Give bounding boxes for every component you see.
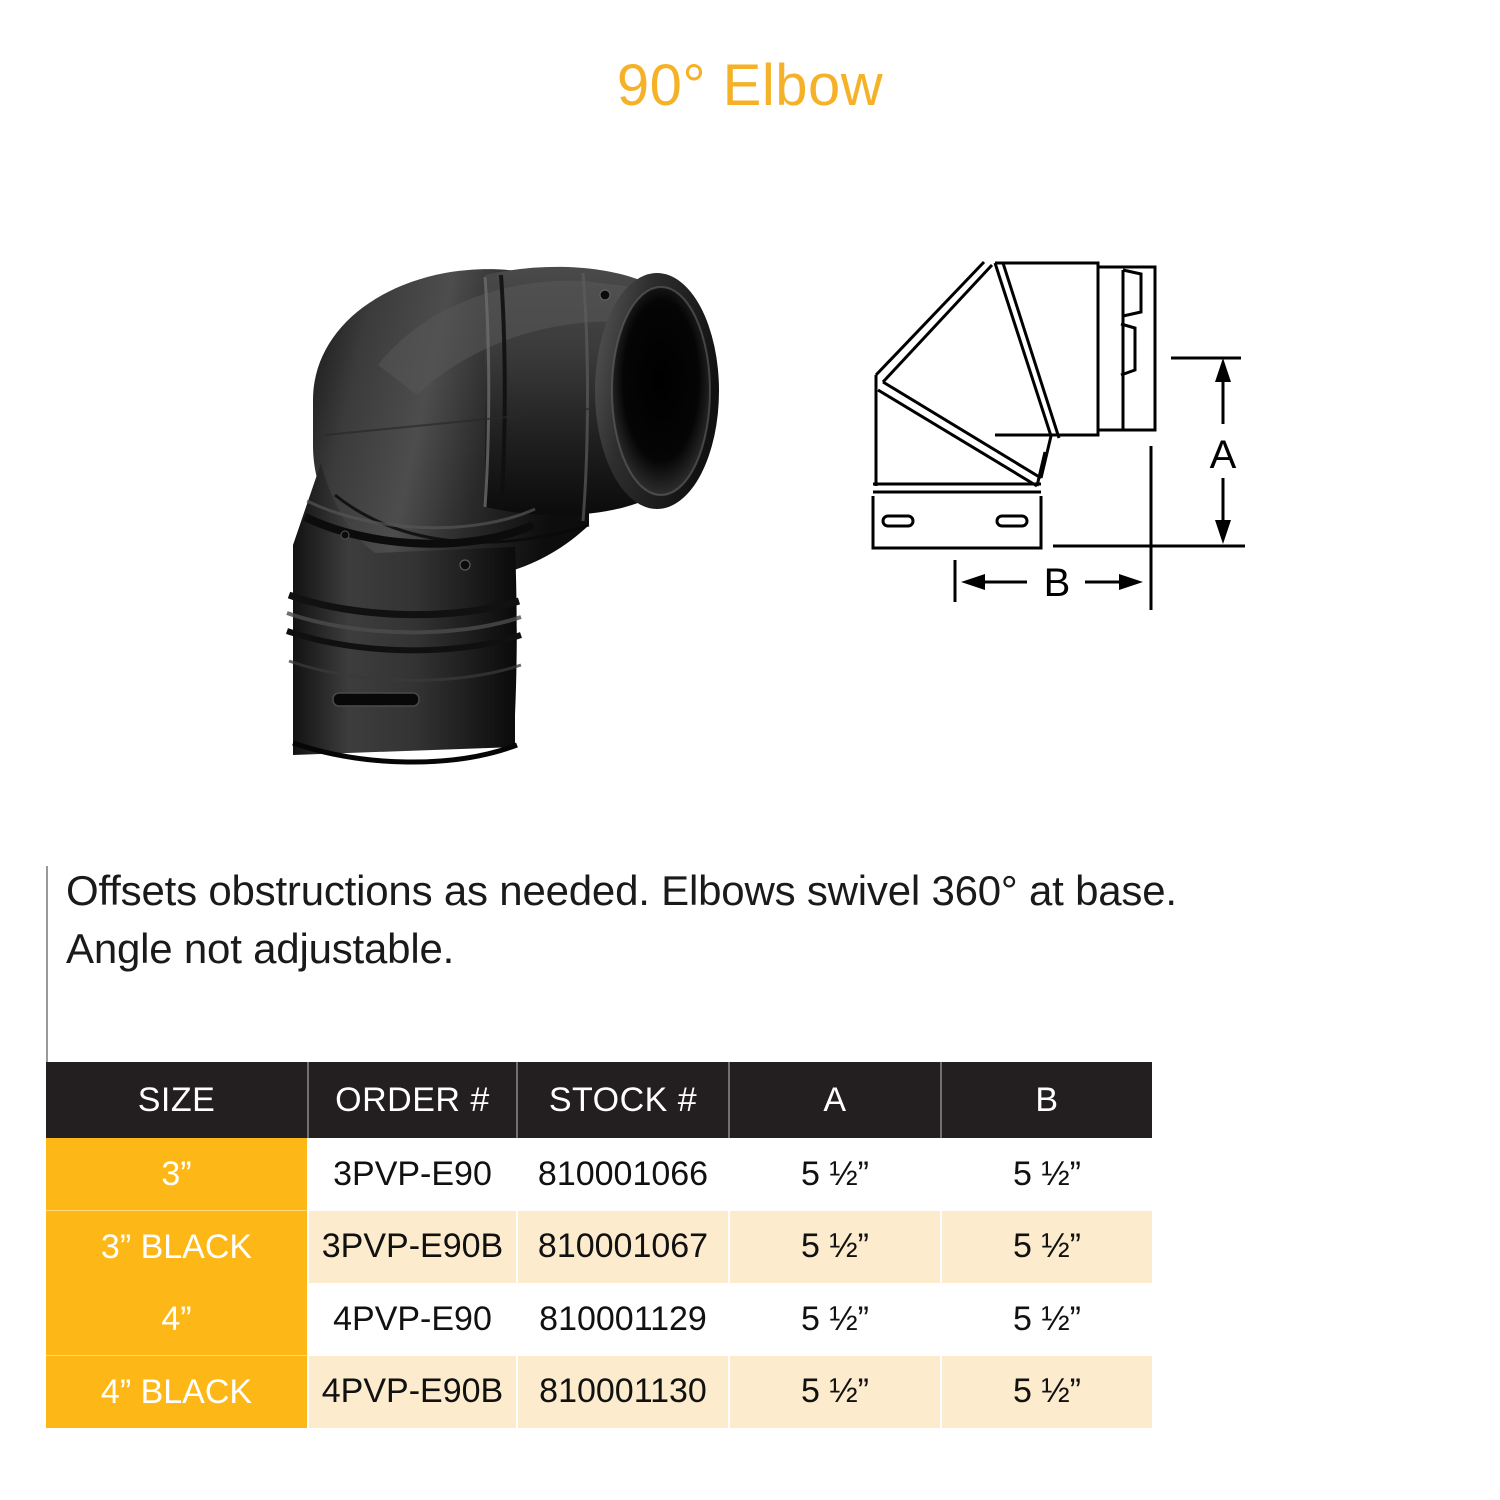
cell-a: 5 ½” <box>729 1356 941 1429</box>
elbow-rivet-3 <box>341 531 349 539</box>
product-photo-svg <box>185 195 745 775</box>
diagram-a-arrowhead-down <box>1215 520 1231 544</box>
cell-b: 5 ½” <box>941 1356 1152 1429</box>
diagram-base-slot-left <box>883 516 913 526</box>
technical-diagram: A B <box>845 230 1275 620</box>
diagram-base-plate <box>873 496 1041 548</box>
spec-table: SIZE ORDER # STOCK # A B 3” 3PVP-E90 810… <box>46 1062 1152 1428</box>
description-line-2: Angle not adjustable. <box>66 920 1456 978</box>
diagram-mitre-a1 <box>876 262 984 375</box>
cell-order: 3PVP-E90 <box>308 1138 517 1211</box>
table-row: 4” BLACK 4PVP-E90B 810001130 5 ½” 5 ½” <box>46 1356 1152 1429</box>
diagram-b-arrowhead-right <box>1119 574 1143 590</box>
product-description: Offsets obstructions as needed. Elbows s… <box>66 862 1456 978</box>
dimension-b-label: B <box>1044 561 1071 605</box>
cell-size: 4” <box>46 1283 308 1356</box>
diagram-a-arrowhead-up <box>1215 358 1231 382</box>
cell-order: 3PVP-E90B <box>308 1211 517 1284</box>
cell-size: 4” BLACK <box>46 1356 308 1429</box>
diagram-collar-outer <box>1098 267 1155 430</box>
technical-diagram-svg: A B <box>845 230 1275 620</box>
cell-a: 5 ½” <box>729 1211 941 1284</box>
diagram-base-slot-right <box>997 516 1027 526</box>
diagram-mitre-a2 <box>883 265 992 382</box>
diagram-mitre-b1 <box>995 263 1051 436</box>
cell-b: 5 ½” <box>941 1211 1152 1284</box>
column-header-b: B <box>941 1062 1152 1138</box>
elbow-rivet-2 <box>460 560 470 570</box>
cell-size: 3” BLACK <box>46 1211 308 1284</box>
cell-a: 5 ½” <box>729 1138 941 1211</box>
cell-order: 4PVP-E90 <box>308 1283 517 1356</box>
cell-stock: 810001130 <box>517 1356 729 1429</box>
elbow-base-slot <box>333 693 419 706</box>
elbow-rivet-1 <box>600 290 610 300</box>
product-photo <box>185 195 745 775</box>
table-header-row: SIZE ORDER # STOCK # A B <box>46 1062 1152 1138</box>
diagram-fold-2 <box>878 390 1037 486</box>
cell-b: 5 ½” <box>941 1283 1152 1356</box>
cell-stock: 810001067 <box>517 1211 729 1284</box>
cell-b: 5 ½” <box>941 1138 1152 1211</box>
cell-order: 4PVP-E90B <box>308 1356 517 1429</box>
left-vertical-rule <box>46 866 48 1062</box>
diagram-mitre-b2 <box>1003 263 1059 438</box>
diagram-fold-1 <box>883 382 1041 478</box>
column-header-stock: STOCK # <box>517 1062 729 1138</box>
cell-stock: 810001066 <box>517 1138 729 1211</box>
cell-size: 3” <box>46 1138 308 1211</box>
table-row: 3” 3PVP-E90 810001066 5 ½” 5 ½” <box>46 1138 1152 1211</box>
column-header-a: A <box>729 1062 941 1138</box>
description-line-1: Offsets obstructions as needed. Elbows s… <box>66 862 1456 920</box>
table-row: 4” 4PVP-E90 810001129 5 ½” 5 ½” <box>46 1283 1152 1356</box>
dimension-a-label: A <box>1210 433 1237 477</box>
column-header-order: ORDER # <box>308 1062 517 1138</box>
diagram-b-arrowhead-left <box>961 574 985 590</box>
diagram-collar-tab-top <box>1123 270 1141 316</box>
cell-a: 5 ½” <box>729 1283 941 1356</box>
page-title: 90° Elbow <box>0 52 1500 119</box>
table-row: 3” BLACK 3PVP-E90B 810001067 5 ½” 5 ½” <box>46 1211 1152 1284</box>
column-header-size: SIZE <box>46 1062 308 1138</box>
cell-stock: 810001129 <box>517 1283 729 1356</box>
